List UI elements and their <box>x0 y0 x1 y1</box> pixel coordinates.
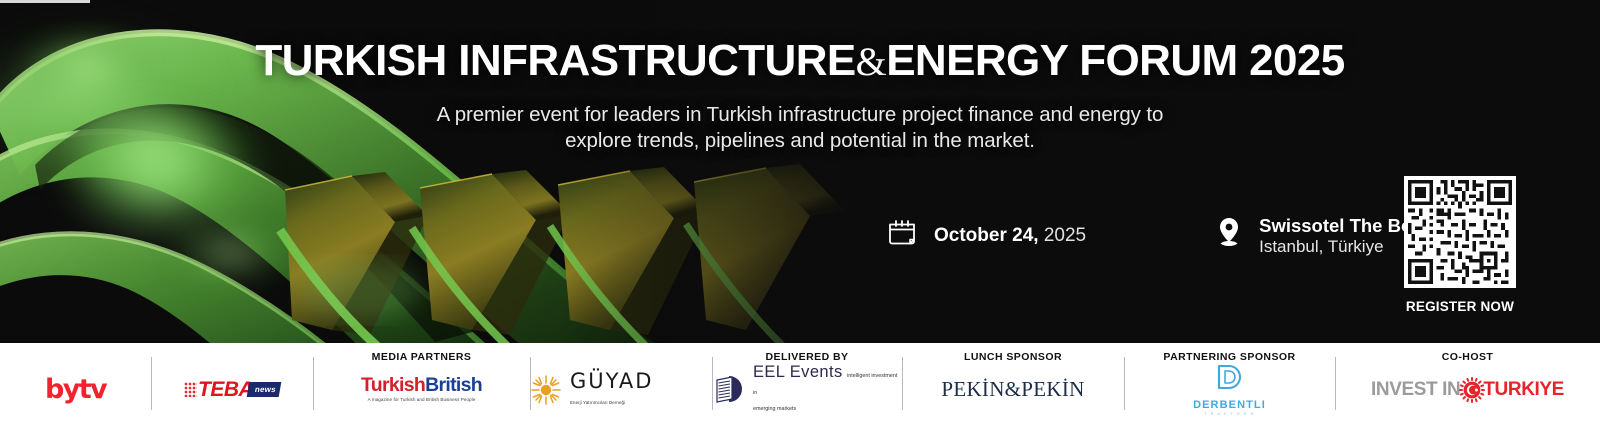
guyad-logo: GÜYAD Enerji Yatırımcıları Derneği <box>530 371 712 408</box>
pekin-pekin-logo: PEKİN&PEKİN <box>941 377 1084 402</box>
sponsor-group-media-partners[interactable]: MEDIA PARTNERS TurkishBritish A magazine… <box>313 343 530 424</box>
sponsor-teba[interactable]: TEBA news <box>151 343 313 424</box>
co-host-label: CO-HOST <box>1335 351 1600 363</box>
bytv-logo: bytv <box>45 374 106 405</box>
turkish-british-tagline: A magazine for Turkish and British Busin… <box>361 398 482 403</box>
qr-code[interactable] <box>1404 176 1516 288</box>
page-title: TURKISH INFRASTRUCTURE&ENERGY FORUM 2025 <box>0 36 1600 86</box>
derbentli-name: DERBENTLI <box>1193 399 1266 411</box>
sponsor-bar: bytv TEBA news MEDIA PARTNERS TurkishBri… <box>0 343 1600 424</box>
teba-dots-icon <box>184 382 197 397</box>
event-banner: TURKISH INFRASTRUCTURE&ENERGY FORUM 2025… <box>0 0 1600 424</box>
turkish-british-logo: TurkishBritish A magazine for Turkish an… <box>361 376 482 403</box>
delivered-by-label: DELIVERED BY <box>712 351 902 363</box>
title-part-two: ENERGY FORUM 2025 <box>886 36 1344 85</box>
register-cta-block[interactable]: REGISTER NOW <box>1404 176 1516 314</box>
invest-in-turkiye-logo: INVEST IN <box>1371 377 1564 403</box>
sponsor-group-partnering[interactable]: PARTNERING SPONSOR DERBENTLI T R A C T O… <box>1124 343 1335 424</box>
subtitle-line-2: explore trends, pipelines and potential … <box>0 128 1600 154</box>
sponsor-bytv[interactable]: bytv <box>0 343 151 424</box>
eel-tagline-2: emerging markets <box>753 406 796 412</box>
event-date-year: 2025 <box>1044 225 1086 246</box>
derbentli-logo: DERBENTLI T R A C T O R S <box>1193 362 1266 417</box>
calendar-icon <box>886 217 918 254</box>
derbentli-tagline: T R A C T O R S <box>1193 413 1266 417</box>
event-date-item: October 24, 2025 <box>886 217 1086 254</box>
media-partners-label: MEDIA PARTNERS <box>313 351 530 363</box>
derbentli-monogram-icon <box>1193 362 1266 396</box>
event-meta-row: October 24, 2025 Swissotel The Bosphorus… <box>886 215 1485 257</box>
page-subtitle: A premier event for leaders in Turkish i… <box>0 102 1600 154</box>
subtitle-line-1: A premier event for leaders in Turkish i… <box>0 102 1600 128</box>
map-pin-icon <box>1214 216 1244 255</box>
sponsor-group-co-host[interactable]: CO-HOST INVEST IN <box>1335 343 1600 424</box>
title-part-one: TURKISH INFRASTRUCTURE <box>255 36 855 85</box>
invest-in-text: INVEST IN <box>1371 379 1460 401</box>
sponsor-guyad[interactable]: GÜYAD Enerji Yatırımcıları Derneği <box>530 343 712 424</box>
turkiye-text: TURKIYE <box>1483 379 1564 401</box>
sponsor-group-delivered-by[interactable]: DELIVERED BY <box>712 343 902 424</box>
sponsor-group-lunch[interactable]: LUNCH SPONSOR PEKİN&PEKİN <box>902 343 1124 424</box>
eel-emblem-icon <box>712 374 746 404</box>
partnering-sponsor-label: PARTNERING SPONSOR <box>1124 351 1335 363</box>
turkiye-starburst-icon <box>1459 377 1485 403</box>
top-left-accent-strip <box>0 0 90 3</box>
turkish-word: Turkish <box>361 374 425 396</box>
teba-news-logo: TEBA news <box>184 378 280 402</box>
register-now-label[interactable]: REGISTER NOW <box>1404 299 1516 314</box>
eel-events-logo: EEL Events intelligent investment in eme… <box>712 364 902 415</box>
event-date-day: October 24, <box>934 225 1039 246</box>
lunch-sponsor-label: LUNCH SPONSOR <box>902 351 1124 363</box>
guyad-tagline: Enerji Yatırımcıları Derneği <box>570 400 625 405</box>
hero-section: TURKISH INFRASTRUCTURE&ENERGY FORUM 2025… <box>0 0 1600 343</box>
title-ampersand: & <box>856 39 887 84</box>
british-word: British <box>425 374 482 396</box>
guyad-name: GÜYAD <box>570 369 653 393</box>
sunburst-icon <box>530 374 562 406</box>
event-date-text: October 24, 2025 <box>934 225 1086 247</box>
eel-events-name: EEL Events <box>753 363 843 381</box>
